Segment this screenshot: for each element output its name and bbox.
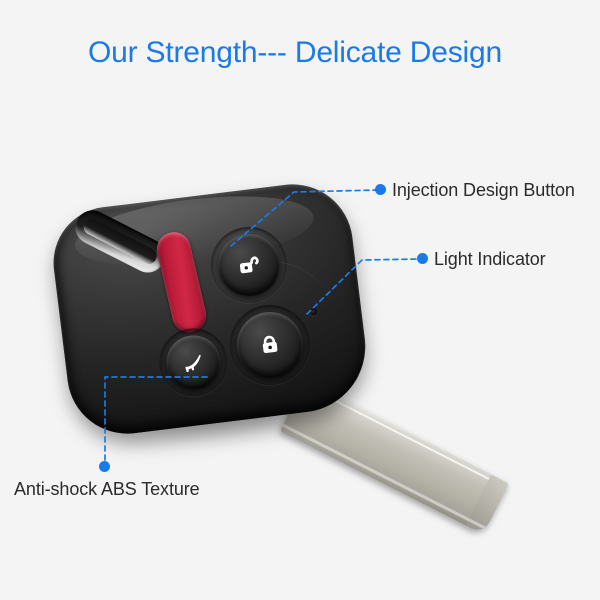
unlock-padlock-icon — [234, 250, 263, 279]
unlock-button[interactable] — [214, 230, 283, 299]
callout-label-anti-shock-abs-texture: Anti-shock ABS Texture — [14, 479, 200, 500]
trunk-release-button[interactable] — [163, 332, 223, 392]
key-blade-tip — [465, 475, 509, 535]
lock-padlock-icon — [255, 330, 284, 359]
callout-dot-light — [417, 253, 428, 264]
trunk-release-icon — [180, 349, 207, 376]
product-feature-image: Our Strength--- Delicate Design — [0, 0, 600, 600]
keyring-slot — [70, 205, 171, 279]
callout-label-light-indicator: Light Indicator — [434, 249, 546, 270]
callout-dot-injection — [375, 184, 386, 195]
lock-button[interactable] — [233, 308, 307, 382]
panic-button[interactable] — [153, 229, 209, 336]
fob-body — [47, 178, 373, 441]
car-key-remote-fob — [55, 185, 555, 565]
callout-dot-abs — [99, 461, 110, 472]
light-indicator-led — [310, 308, 318, 316]
page-title: Our Strength--- Delicate Design — [88, 36, 502, 70]
callout-label-injection-design-button: Injection Design Button — [392, 180, 575, 201]
